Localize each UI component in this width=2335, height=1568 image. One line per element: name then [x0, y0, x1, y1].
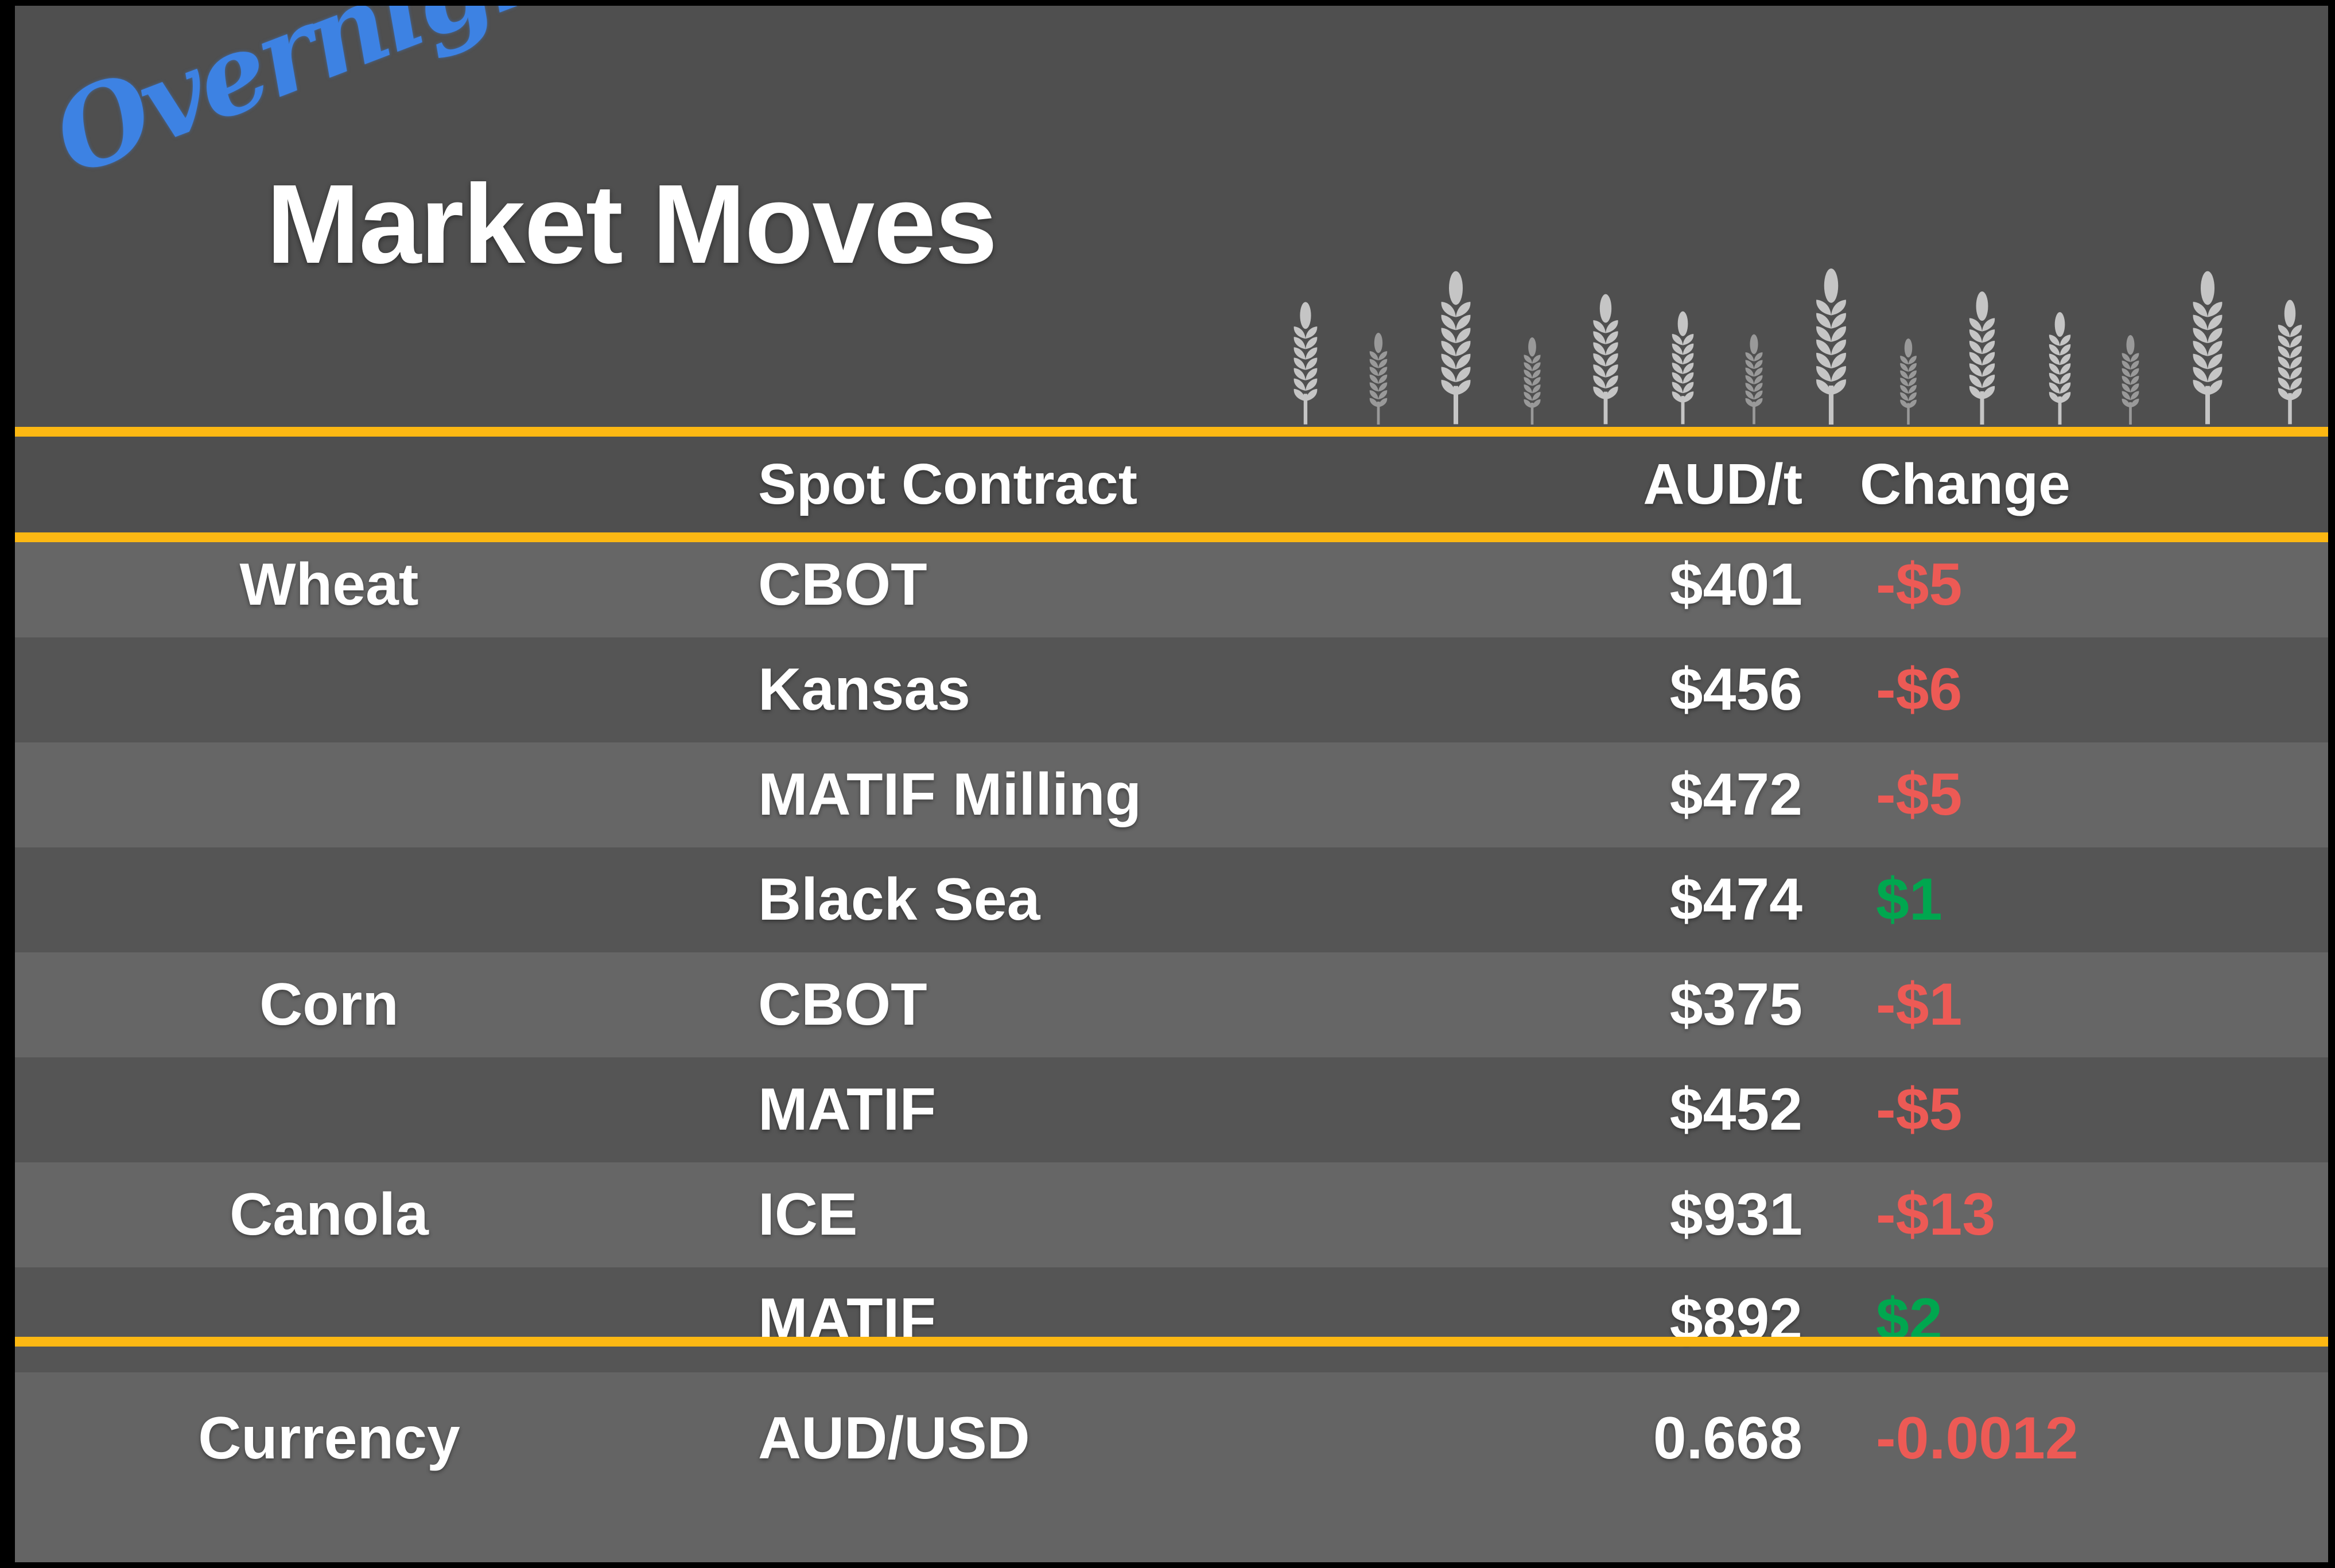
market-moves-card: Overnight Market Moves Spot Contract AUD… — [0, 0, 2335, 1568]
cell-change: -$5 — [1802, 761, 2328, 829]
cell-change: -0.0012 — [1802, 1404, 2328, 1473]
table-header-row: Spot Contract AUD/t Change — [15, 437, 2328, 532]
wheat-stalk-icon — [1666, 311, 1700, 425]
cell-price: 0.668 — [1435, 1404, 1802, 1473]
divider-rule-header — [15, 532, 2328, 542]
cell-change: $1 — [1802, 866, 2328, 934]
wheat-stalk-icon — [1962, 291, 2002, 425]
cell-change: -$6 — [1802, 656, 2328, 724]
table-row: MATIF$892$2 — [15, 1267, 2328, 1372]
cell-contract: MATIF — [752, 1076, 1435, 1144]
cell-price: $931 — [1435, 1181, 1802, 1249]
wheat-stalk-icon — [1519, 337, 1545, 425]
cell-price: $474 — [1435, 866, 1802, 934]
table-row: MATIF$452-$5 — [15, 1057, 2328, 1162]
cell-category: Wheat — [15, 551, 752, 619]
wheat-stalk-icon — [1365, 333, 1392, 425]
table-row: Black Sea$474$1 — [15, 847, 2328, 952]
cell-category: Canola — [15, 1181, 752, 1249]
table-row-currency: CurrencyAUD/USD0.668-0.0012 — [15, 1372, 2328, 1504]
page-title: Market Moves — [266, 159, 996, 289]
wheat-stalk-icon — [2185, 271, 2231, 425]
cell-change: -$1 — [1802, 971, 2328, 1039]
table-row: CanolaICE$931-$13 — [15, 1162, 2328, 1267]
column-header-contract: Spot Contract — [752, 452, 1435, 518]
card-inner: Overnight Market Moves Spot Contract AUD… — [15, 6, 2328, 1562]
header-band: Overnight Market Moves — [15, 6, 2328, 436]
cell-contract: Black Sea — [752, 866, 1435, 934]
table-body: WheatCBOT$401-$5Kansas$456-$6MATIF Milli… — [15, 532, 2328, 1504]
wheat-stalk-icon — [1287, 302, 1324, 425]
cell-change: -$13 — [1802, 1181, 2328, 1249]
cell-contract: ICE — [752, 1181, 1435, 1249]
divider-rule-top — [15, 427, 2328, 437]
cell-contract: CBOT — [752, 551, 1435, 619]
wheat-stalk-icon — [2117, 335, 2144, 425]
column-header-change: Change — [1802, 452, 2328, 518]
cell-contract: AUD/USD — [752, 1404, 1435, 1473]
divider-rule-footer — [15, 1337, 2328, 1347]
wheat-decoration-strip — [1287, 195, 2309, 425]
cell-price: $375 — [1435, 971, 1802, 1039]
cell-price: $472 — [1435, 761, 1802, 829]
wheat-stalk-icon — [1433, 271, 1479, 425]
column-header-price: AUD/t — [1435, 452, 1802, 518]
cell-category: Corn — [15, 971, 752, 1039]
cell-price: $456 — [1435, 656, 1802, 724]
table-row: MATIF Milling$472-$5 — [15, 742, 2328, 847]
cell-contract: CBOT — [752, 971, 1435, 1039]
table-row: Kansas$456-$6 — [15, 637, 2328, 742]
table-row: CornCBOT$375-$1 — [15, 952, 2328, 1057]
wheat-stalk-icon — [1740, 334, 1767, 425]
wheat-stalk-icon — [1895, 338, 1921, 425]
wheat-stalk-icon — [1586, 294, 1625, 425]
cell-price: $452 — [1435, 1076, 1802, 1144]
cell-change: -$5 — [1802, 1076, 2328, 1144]
cell-category: Currency — [15, 1404, 752, 1473]
cell-price: $401 — [1435, 551, 1802, 619]
wheat-stalk-icon — [1808, 269, 1855, 425]
table-row: WheatCBOT$401-$5 — [15, 532, 2328, 637]
wheat-stalk-icon — [2043, 312, 2077, 425]
wheat-stalk-icon — [2271, 299, 2309, 425]
cell-contract: MATIF Milling — [752, 761, 1435, 829]
cell-contract: Kansas — [752, 656, 1435, 724]
cell-change: -$5 — [1802, 551, 2328, 619]
